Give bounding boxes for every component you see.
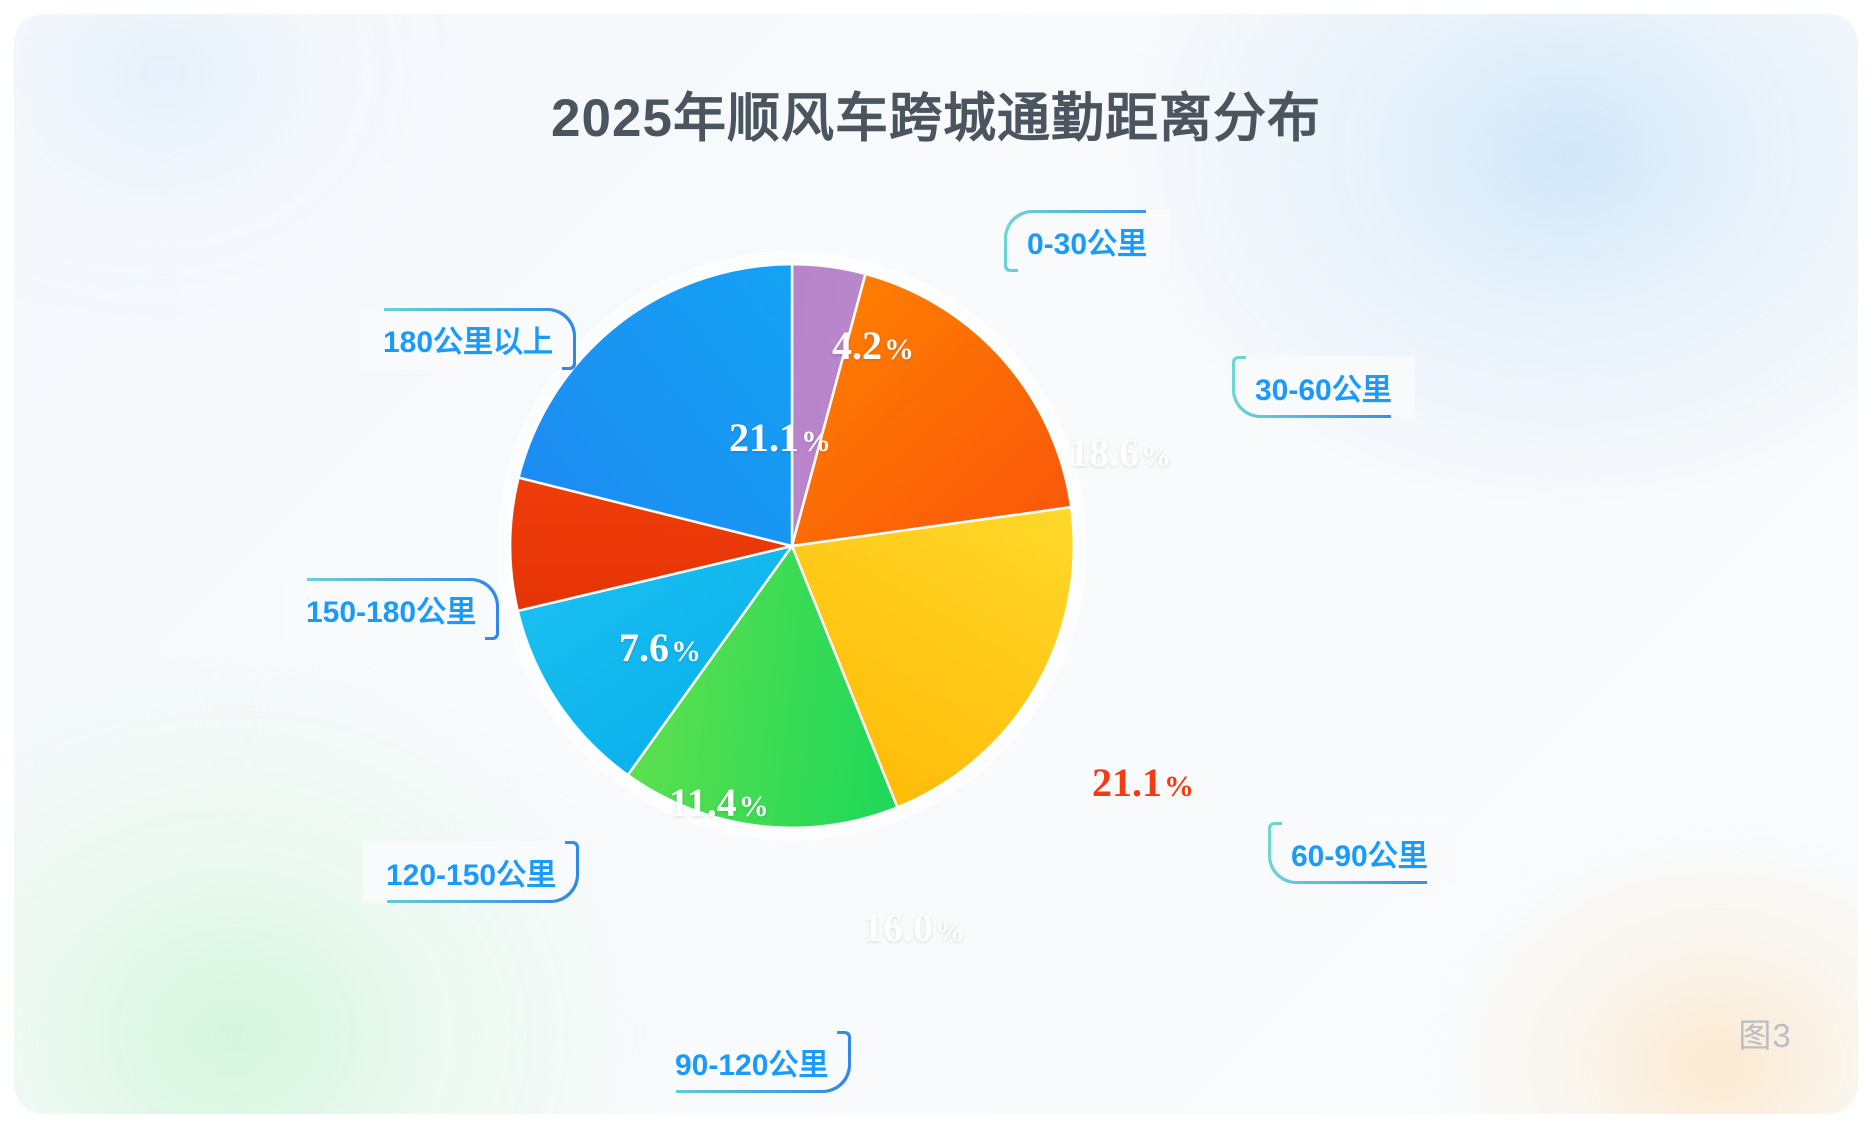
callout-60-90-label: 60-90公里 xyxy=(1271,825,1448,881)
callout-0-30-label: 0-30公里 xyxy=(1007,213,1167,269)
callout-0-30[interactable]: 0-30公里 xyxy=(1004,210,1170,272)
chart-title: 2025年顺风车跨城通勤距离分布 xyxy=(14,76,1858,152)
callout-180-plus-label: 180公里以上 xyxy=(363,311,573,367)
callout-150-180-label: 150-180公里 xyxy=(286,581,496,637)
callout-60-90[interactable]: 60-90公里 xyxy=(1268,822,1451,884)
watermark: 图3 xyxy=(1710,978,1820,1088)
callout-30-60-label: 30-60公里 xyxy=(1235,359,1412,415)
callout-90-120-label: 90-120公里 xyxy=(655,1034,848,1090)
pie-slice-group xyxy=(510,264,1074,828)
callout-120-150-label: 120-150公里 xyxy=(366,844,576,900)
chart-card: 2025年顺风车跨城通勤距离分布 4.2% 18.6% 21.1% 16.0% … xyxy=(14,14,1858,1114)
callout-120-150[interactable]: 120-150公里 xyxy=(363,841,579,903)
callout-180-plus[interactable]: 180公里以上 xyxy=(360,308,576,370)
callout-30-60[interactable]: 30-60公里 xyxy=(1232,356,1415,418)
pie-chart-svg xyxy=(492,246,1092,846)
pie-chart xyxy=(492,246,1092,846)
callout-90-120[interactable]: 90-120公里 xyxy=(652,1031,851,1093)
callout-150-180[interactable]: 150-180公里 xyxy=(283,578,499,640)
